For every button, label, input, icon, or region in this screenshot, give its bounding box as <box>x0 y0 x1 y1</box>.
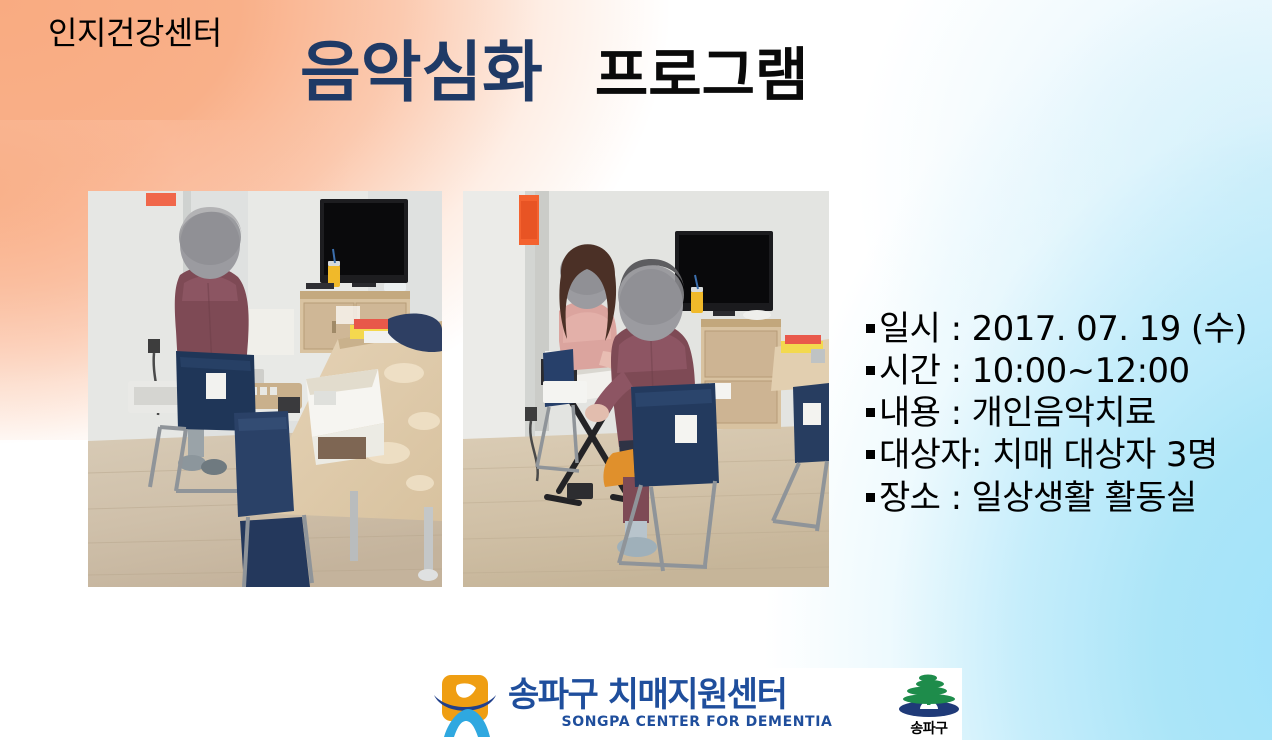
org-label: 인지건강센터 <box>48 8 222 54</box>
info-item-participants-text: 대상자: 치매 대상자 3명 <box>879 434 1218 476</box>
songpa-dementia-center-logo-icon <box>432 671 498 737</box>
logo-english-name: SONGPA CENTER FOR DEMENTIA <box>508 714 886 730</box>
info-item-participants: 대상자: 치매 대상자 3명 <box>866 434 1266 476</box>
info-item-time-text: 시간 : 10:00~12:00 <box>879 350 1189 392</box>
title-sub-text: 프로그램 <box>595 46 808 104</box>
songpa-gu-emblem: 송파구 <box>896 671 962 738</box>
info-item-content-text: 내용 : 개인음악치료 <box>879 392 1156 434</box>
info-item-date-text: 일시 : 2017. 07. 19 (수) <box>879 308 1247 350</box>
bullet-square-icon <box>866 324 875 333</box>
bullet-square-icon <box>866 450 875 459</box>
bullet-square-icon <box>866 366 875 375</box>
songpa-gu-tree-icon <box>896 671 962 719</box>
presentation-slide: 인지건강센터 음악심화 프로그램 <box>0 0 1272 740</box>
footer-logo-bar: 송파구 치매지원센터 SONGPA CENTER FOR DEMENTIA 송파… <box>432 668 962 740</box>
info-item-content: 내용 : 개인음악치료 <box>866 392 1266 434</box>
info-item-location: 장소 : 일상생활 활동실 <box>866 477 1266 519</box>
logo-text-block: 송파구 치매지원센터 SONGPA CENTER FOR DEMENTIA <box>508 678 886 731</box>
logo-korean-name: 송파구 치매지원센터 <box>508 678 886 714</box>
songpa-gu-label: 송파구 <box>910 718 947 738</box>
info-item-date: 일시 : 2017. 07. 19 (수) <box>866 308 1266 350</box>
info-item-location-text: 장소 : 일상생활 활동실 <box>879 477 1197 519</box>
photo-right <box>463 191 829 587</box>
photo-left <box>88 191 442 587</box>
photo-left-illustration <box>88 191 442 587</box>
photo-right-illustration <box>463 191 829 587</box>
bullet-square-icon <box>866 493 875 502</box>
slide-title: 음악심화 프로그램 <box>300 40 808 106</box>
bullet-square-icon <box>866 408 875 417</box>
info-item-time: 시간 : 10:00~12:00 <box>866 350 1266 392</box>
title-main-text: 음악심화 <box>300 40 543 106</box>
program-info-list: 일시 : 2017. 07. 19 (수) 시간 : 10:00~12:00 내… <box>866 308 1266 519</box>
